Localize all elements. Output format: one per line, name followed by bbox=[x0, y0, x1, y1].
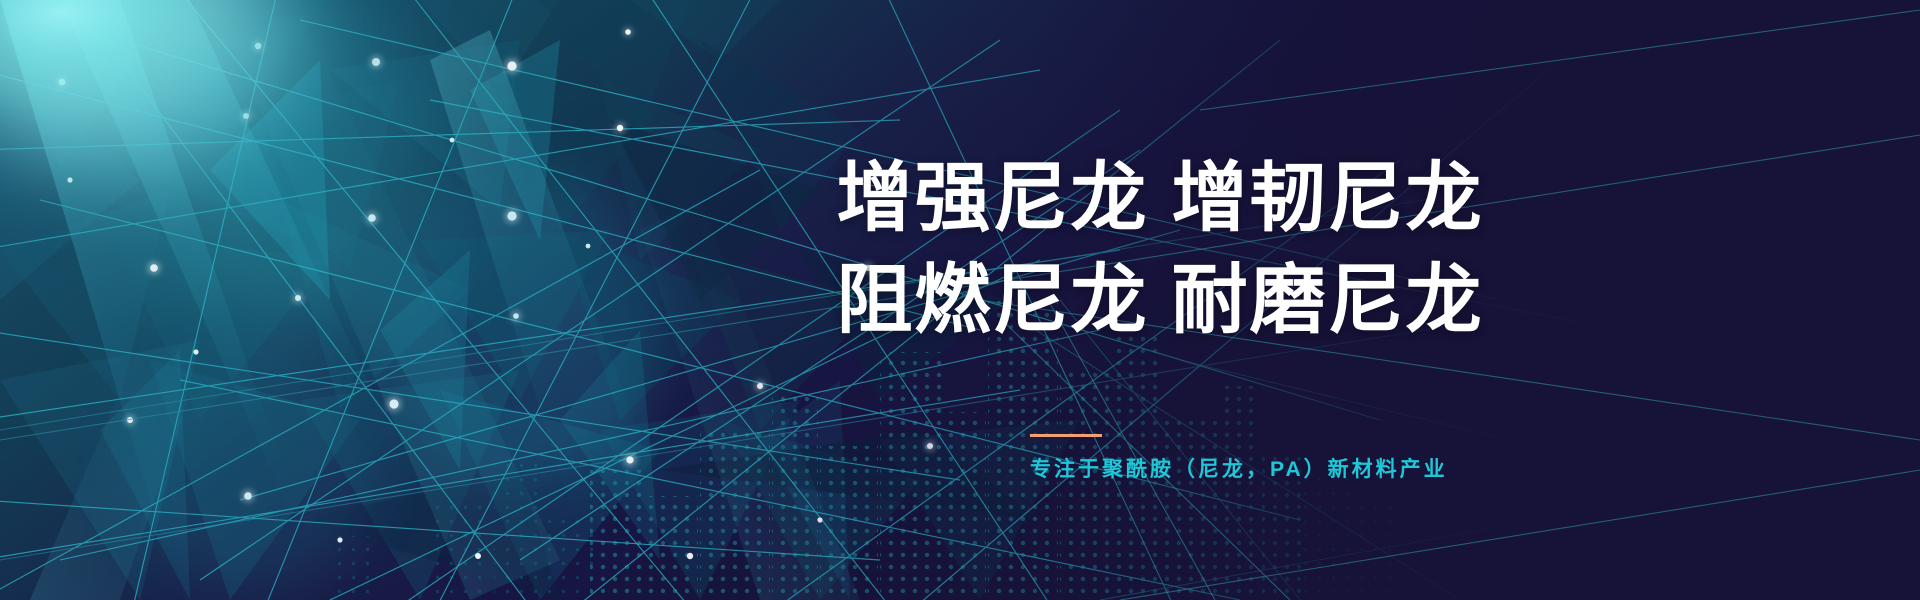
subtitle-text: 专注于聚酰胺（尼龙，PA）新材料产业 bbox=[1030, 459, 1448, 480]
headline-block: 增强尼龙 增韧尼龙 阻燃尼龙 耐磨尼龙 bbox=[800, 148, 1520, 352]
headline-line-2: 阻燃尼龙 耐磨尼龙 bbox=[800, 250, 1520, 352]
headline-line-1: 增强尼龙 增韧尼龙 bbox=[800, 148, 1520, 250]
hero-banner: 增强尼龙 增韧尼龙 阻燃尼龙 耐磨尼龙 专注于聚酰胺（尼龙，PA）新材料产业 bbox=[0, 0, 1920, 600]
orange-divider bbox=[1030, 434, 1102, 437]
subtitle-block: 专注于聚酰胺（尼龙，PA）新材料产业 bbox=[1030, 434, 1448, 480]
